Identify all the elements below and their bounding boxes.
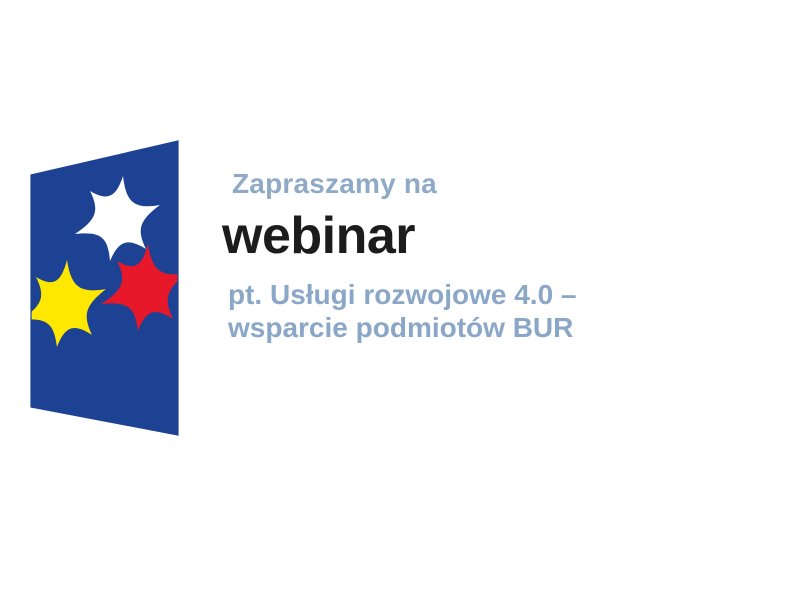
announcement-text-block: Zapraszamy na webinar pt. Usługi rozwojo… bbox=[228, 170, 768, 344]
webinar-announcement-banner: Zapraszamy na webinar pt. Usługi rozwojo… bbox=[0, 0, 800, 600]
subtitle-line-2: wsparcie podmiotów BUR bbox=[228, 311, 768, 344]
fundusze-europejskie-logo bbox=[20, 128, 200, 448]
headline-webinar: webinar bbox=[222, 210, 768, 262]
kicker-text: Zapraszamy na bbox=[232, 170, 768, 198]
subtitle-text: pt. Usługi rozwojowe 4.0 – wsparcie podm… bbox=[228, 278, 768, 344]
subtitle-line-1: pt. Usługi rozwojowe 4.0 – bbox=[228, 278, 768, 311]
